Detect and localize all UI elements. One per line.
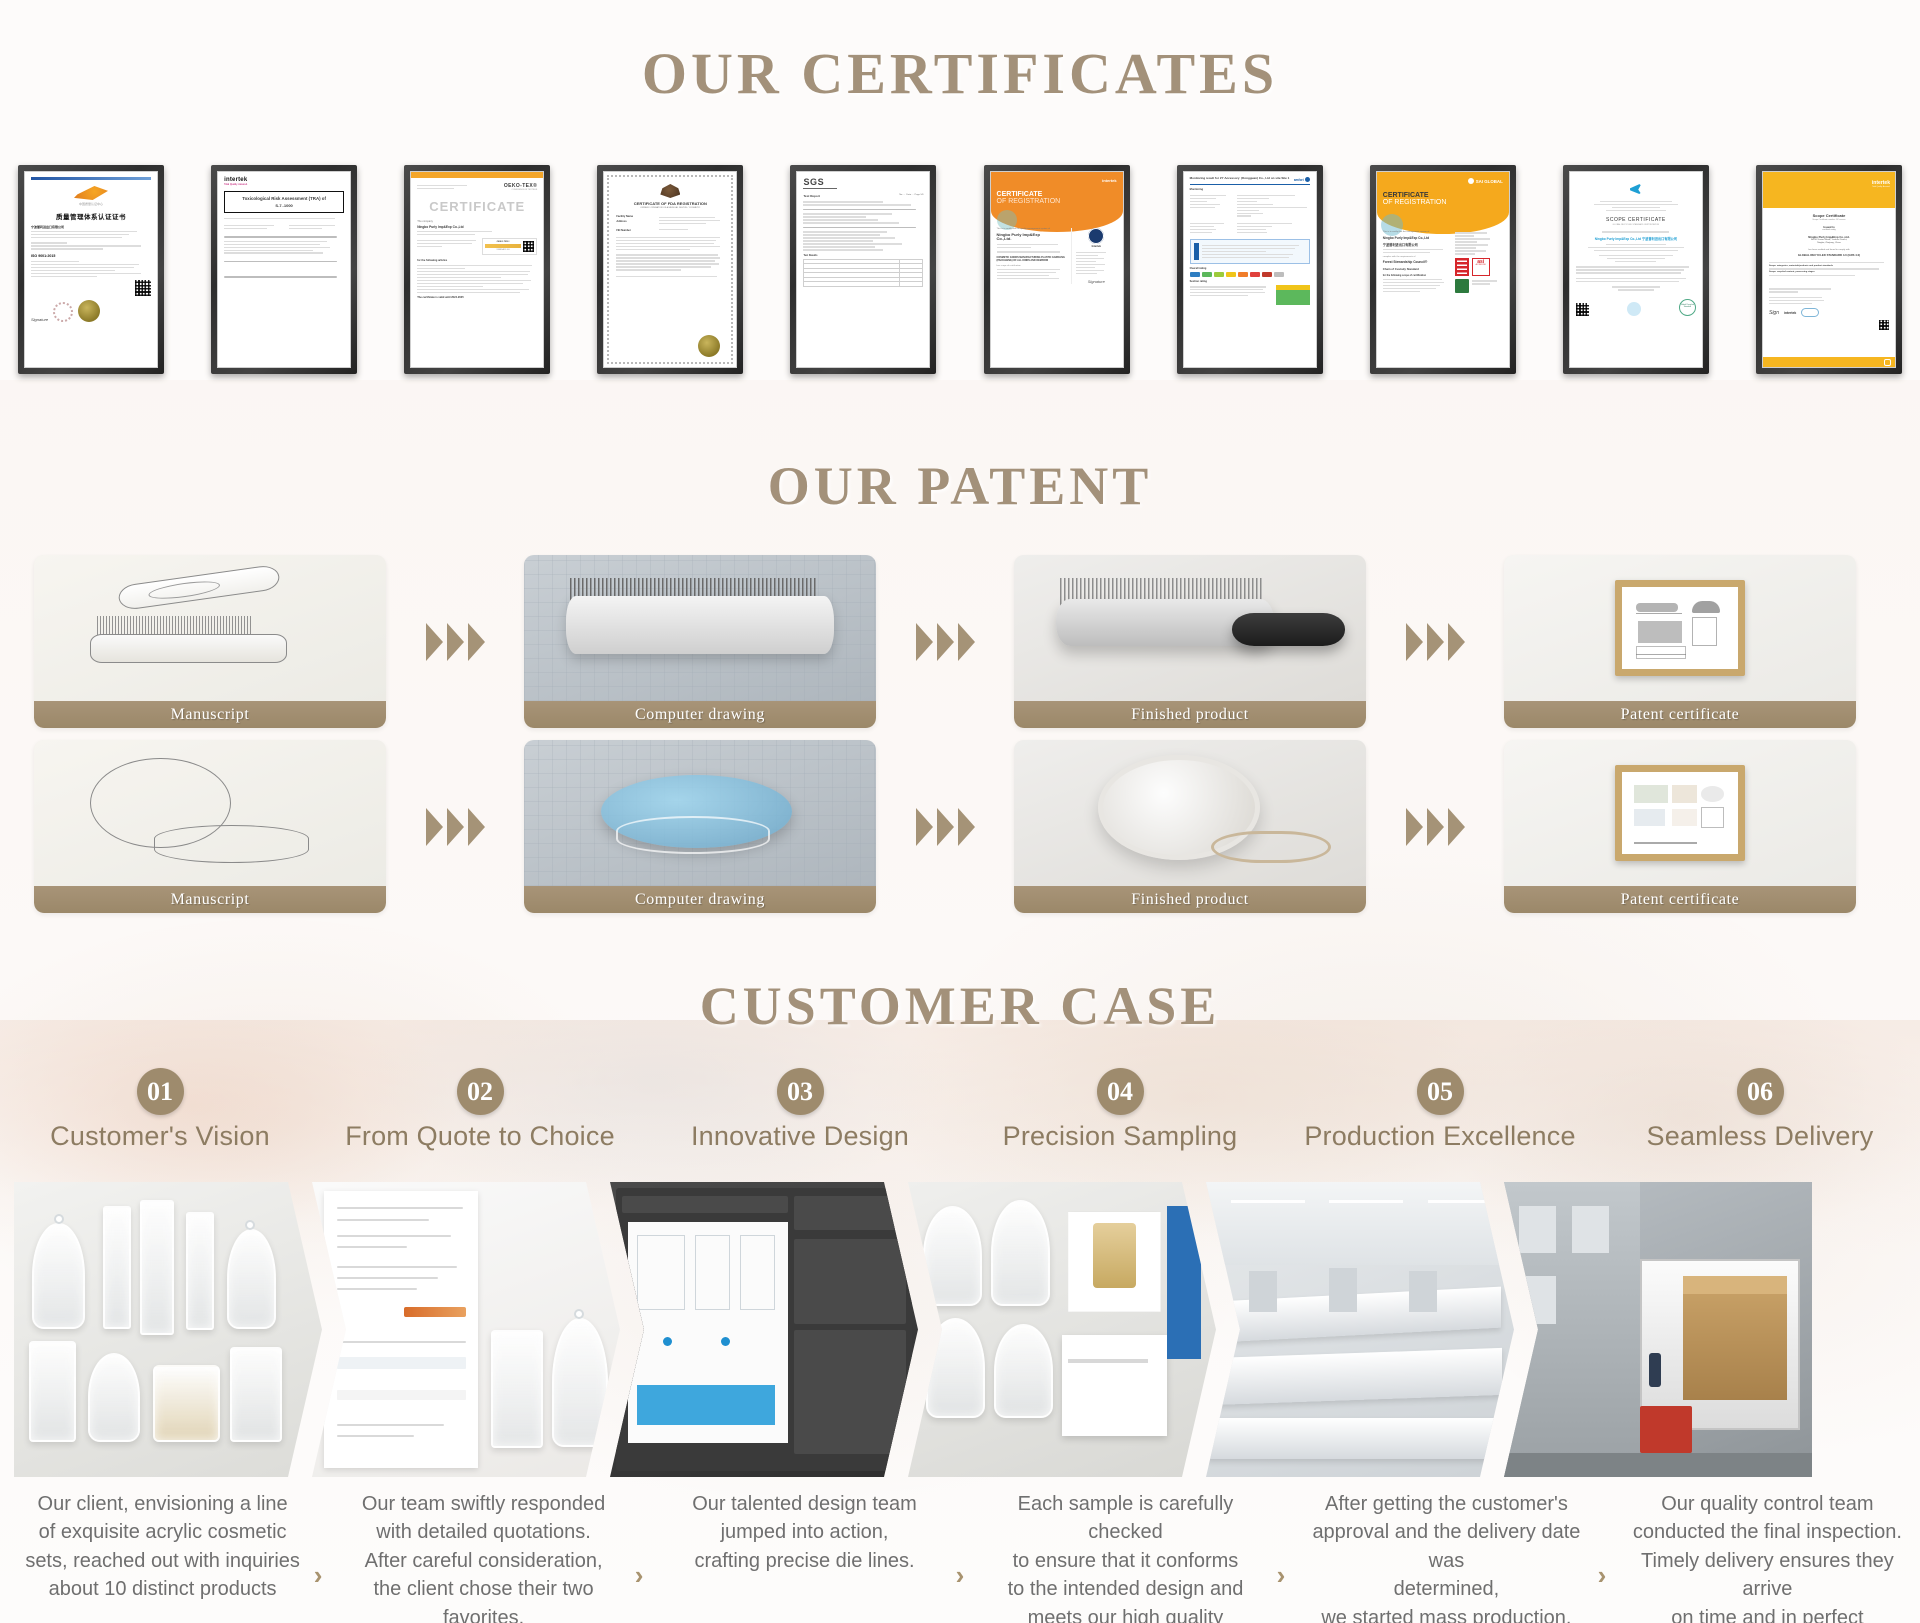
- certificate-intertek-toxicological-risk-assessment[interactable]: intertek Total Quality. Assured. Toxicol…: [211, 165, 357, 374]
- patent-arrow-separator-3: [1366, 555, 1504, 728]
- chevron-right-icon: [468, 623, 485, 661]
- chevron-right-icon: [447, 808, 464, 846]
- case-image-precision-sampling: [908, 1182, 1216, 1477]
- patent-computer-drawing-mirror-image: [524, 740, 876, 886]
- step-number-badge: 05: [1417, 1068, 1464, 1115]
- patent-manuscript-mirror-image: [34, 740, 386, 886]
- section-title-certificates: OUR CERTIFICATES: [0, 40, 1920, 107]
- patent-arrow-separator-4: [386, 740, 524, 913]
- patent-computer-drawing-mirror[interactable]: Computer drawing: [524, 740, 876, 913]
- step-number-badge: 06: [1737, 1068, 1784, 1115]
- patent-certificate-brush-image: [1504, 555, 1856, 701]
- patent-finished-product-brush[interactable]: Finished product: [1014, 555, 1366, 728]
- patent-card-caption: Finished product: [1014, 886, 1366, 913]
- patent-certificate-mirror-image: [1504, 740, 1856, 886]
- chevron-right-icon: [1448, 623, 1465, 661]
- case-image-seamless-delivery: [1504, 1182, 1812, 1477]
- case-caption-06: Our quality control teamconducted the fi…: [1615, 1490, 1920, 1623]
- patent-finished-product-mirror-image: [1014, 740, 1366, 886]
- step-title: Production Excellence: [1280, 1121, 1600, 1152]
- patent-certificate-brush[interactable]: Patent certificate: [1504, 555, 1856, 728]
- step-number-badge: 02: [457, 1068, 504, 1115]
- patent-card-caption: Manuscript: [34, 886, 386, 913]
- case-image-innovative-design: [610, 1182, 918, 1477]
- chevron-right-icon: [1406, 623, 1423, 661]
- case-image-quote-to-choice: [312, 1182, 620, 1477]
- case-caption-03: Our talented design teamjumped into acti…: [652, 1490, 957, 1623]
- patent-row-mirror: Manuscript Computer drawing: [34, 740, 1886, 913]
- step-title: Seamless Delivery: [1600, 1121, 1920, 1152]
- certificate-amfori-bsci-monitoring[interactable]: Monitoring result for ZY Accessory (Dong…: [1177, 165, 1323, 374]
- patent-card-caption: Finished product: [1014, 701, 1366, 728]
- chevron-right-icon: [937, 808, 954, 846]
- chevron-right-icon: [1406, 808, 1423, 846]
- patent-finished-product-brush-image: [1014, 555, 1366, 701]
- certificate-oeko-tex[interactable]: OEKO-TEX® CONFIDENCE IN TEXTILES CERTIFI…: [404, 165, 550, 374]
- chevron-right-icon: [1427, 808, 1444, 846]
- caption-arrow-icon: ›: [1268, 1490, 1294, 1623]
- section-title-patent: OUR PATENT: [0, 455, 1920, 517]
- chevron-right-icon: [937, 623, 954, 661]
- certificate-intertek-registration[interactable]: intertek CERTIFICATE OF REGISTRATION Thi…: [984, 165, 1130, 374]
- patent-arrow-separator-1: [386, 555, 524, 728]
- step-header-02[interactable]: 02 From Quote to Choice: [320, 1068, 640, 1152]
- step-header-06[interactable]: 06 Seamless Delivery: [1600, 1068, 1920, 1152]
- certificate-quality-management-system[interactable]: 中国质量认证中心 质量管理体系认证证书 宁波普利进出口有限公司 ISO 9001…: [18, 165, 164, 374]
- certificate-intertek-scope-grs[interactable]: intertek Total Quality. Assured. Scope C…: [1756, 165, 1902, 374]
- patent-computer-drawing-brush-image: [524, 555, 876, 701]
- step-header-05[interactable]: 05 Production Excellence: [1280, 1068, 1600, 1152]
- case-image-production-excellence: [1206, 1182, 1514, 1477]
- patent-gallery: Manuscript Computer drawing: [34, 555, 1886, 925]
- case-caption-05: After getting the customer'sapproval and…: [1294, 1490, 1599, 1623]
- certificate-scope-global-recycled-standard[interactable]: SCOPE CERTIFICATE GLOBAL RECYCLED STANDA…: [1563, 165, 1709, 374]
- patent-card-caption: Patent certificate: [1504, 701, 1856, 728]
- case-caption-04: Each sample is carefully checkedto ensur…: [973, 1490, 1278, 1623]
- patent-manuscript-brush-image: [34, 555, 386, 701]
- patent-row-hair-brush: Manuscript Computer drawing: [34, 555, 1886, 728]
- chevron-right-icon: [1427, 623, 1444, 661]
- patent-computer-drawing-brush[interactable]: Computer drawing: [524, 555, 876, 728]
- certificate-fda-registration[interactable]: CERTIFICATE OF FDA REGISTRATION OWNER / …: [597, 165, 743, 374]
- patent-manuscript-brush[interactable]: Manuscript: [34, 555, 386, 728]
- step-number-badge: 04: [1097, 1068, 1144, 1115]
- chevron-right-icon: [468, 808, 485, 846]
- step-header-04[interactable]: 04 Precision Sampling: [960, 1068, 1280, 1152]
- caption-arrow-icon: ›: [947, 1490, 973, 1623]
- patent-arrow-separator-2: [876, 555, 1014, 728]
- patent-manuscript-mirror[interactable]: Manuscript: [34, 740, 386, 913]
- customer-case-images: [14, 1182, 1906, 1477]
- caption-arrow-icon: ›: [626, 1490, 652, 1623]
- chevron-right-icon: [426, 623, 443, 661]
- step-header-03[interactable]: 03 Innovative Design: [640, 1068, 960, 1152]
- patent-arrow-separator-6: [1366, 740, 1504, 913]
- certificates-gallery: 中国质量认证中心 质量管理体系认证证书 宁波普利进出口有限公司 ISO 9001…: [18, 165, 1902, 400]
- step-number-badge: 01: [137, 1068, 184, 1115]
- patent-card-caption: Computer drawing: [524, 886, 876, 913]
- step-title: Innovative Design: [640, 1121, 960, 1152]
- patent-finished-product-mirror[interactable]: Finished product: [1014, 740, 1366, 913]
- chevron-right-icon: [958, 808, 975, 846]
- chevron-right-icon: [958, 623, 975, 661]
- patent-arrow-separator-5: [876, 740, 1014, 913]
- step-number-badge: 03: [777, 1068, 824, 1115]
- patent-card-caption: Manuscript: [34, 701, 386, 728]
- chevron-right-icon: [916, 808, 933, 846]
- customer-case-step-headers: 01 Customer's Vision 02 From Quote to Ch…: [0, 1068, 1920, 1152]
- step-title: From Quote to Choice: [320, 1121, 640, 1152]
- case-caption-01: Our client, envisioning a lineof exquisi…: [10, 1490, 315, 1623]
- product-detail-page: OUR CERTIFICATES 中国质量认证中心 质量管理体系认证证书 宁波普…: [0, 0, 1920, 1623]
- section-title-customer-case: CUSTOMER CASE: [0, 975, 1920, 1037]
- step-title: Customer's Vision: [0, 1121, 320, 1152]
- case-image-customer-vision: [14, 1182, 322, 1477]
- caption-arrow-icon: ›: [305, 1490, 331, 1623]
- caption-arrow-icon: ›: [1589, 1490, 1615, 1623]
- step-header-01[interactable]: 01 Customer's Vision: [0, 1068, 320, 1152]
- patent-card-caption: Patent certificate: [1504, 886, 1856, 913]
- chevron-right-icon: [916, 623, 933, 661]
- case-caption-02: Our team swiftly respondedwith detailed …: [331, 1490, 636, 1623]
- certificate-sai-global-fsc[interactable]: SAI GLOBAL CERTIFICATE OF REGISTRATION T…: [1370, 165, 1516, 374]
- chevron-right-icon: [426, 808, 443, 846]
- chevron-right-icon: [447, 623, 464, 661]
- chevron-right-icon: [1448, 808, 1465, 846]
- patent-certificate-mirror[interactable]: Patent certificate: [1504, 740, 1856, 913]
- customer-case-captions: Our client, envisioning a lineof exquisi…: [10, 1490, 1910, 1623]
- step-title: Precision Sampling: [960, 1121, 1280, 1152]
- patent-card-caption: Computer drawing: [524, 701, 876, 728]
- certificate-sgs-test-report[interactable]: SGS Test Report No. ... Date ... Page 1/…: [790, 165, 936, 374]
